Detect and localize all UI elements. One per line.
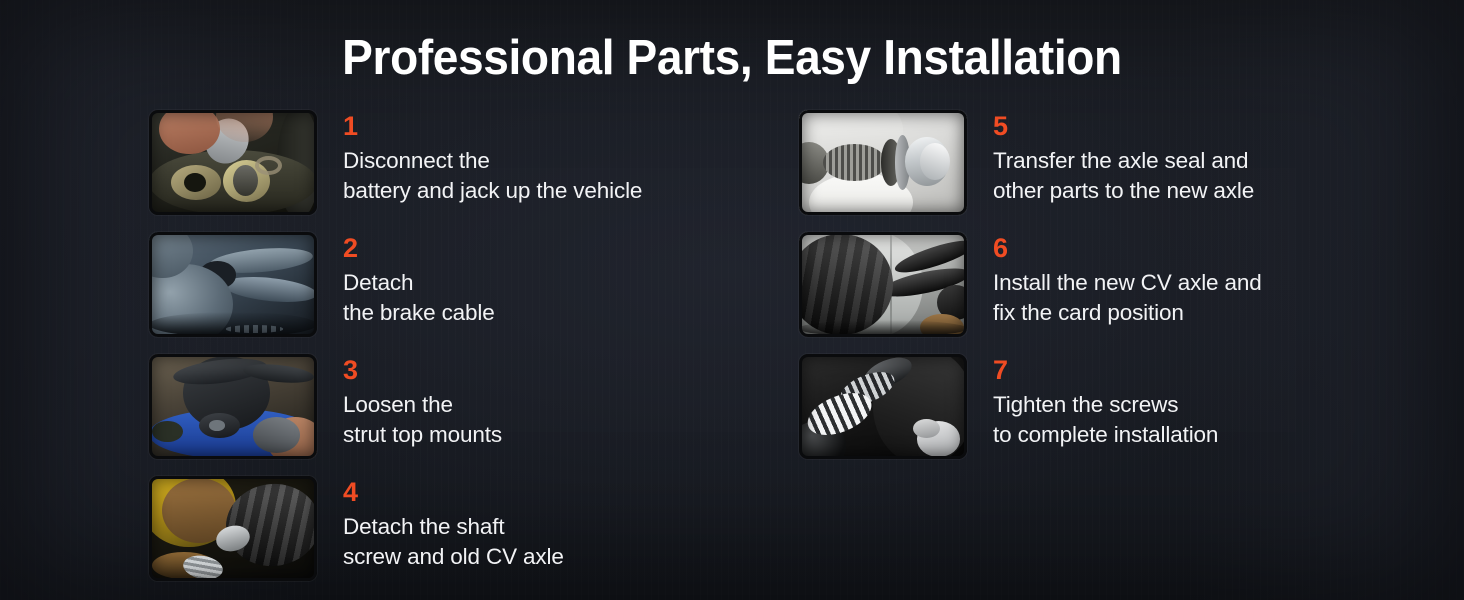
step-2-photo-detach-brake-cable-pliers xyxy=(149,232,317,337)
step-6-text: 6 Install the new CV axle and fix the ca… xyxy=(993,232,1262,328)
step-4-photo-detach-shaft-screw-old-cv-axle xyxy=(149,476,317,581)
step-3-description: Loosen the strut top mounts xyxy=(343,390,502,450)
step-3-thumbnail xyxy=(149,354,317,459)
step-6-thumbnail xyxy=(799,232,967,337)
step-7-number: 7 xyxy=(993,355,1218,385)
step-item: 4 Detach the shaft screw and old CV axle xyxy=(149,476,769,598)
step-4-thumbnail xyxy=(149,476,317,581)
step-item: 1 Disconnect the battery and jack up the… xyxy=(149,110,769,232)
step-1-description: Disconnect the battery and jack up the v… xyxy=(343,146,642,206)
steps-columns: 1 Disconnect the battery and jack up the… xyxy=(0,0,1464,600)
step-5-photo-transfer-axle-seal xyxy=(799,110,967,215)
step-6-photo-install-new-cv-axle xyxy=(799,232,967,337)
step-2-thumbnail xyxy=(149,232,317,337)
step-3-text: 3 Loosen the strut top mounts xyxy=(343,354,502,450)
steps-column-left: 1 Disconnect the battery and jack up the… xyxy=(149,110,769,598)
step-7-text: 7 Tighten the screws to complete install… xyxy=(993,354,1218,450)
step-3-photo-loosen-strut-top-mounts xyxy=(149,354,317,459)
step-1-number: 1 xyxy=(343,111,642,141)
step-6-number: 6 xyxy=(993,233,1262,263)
installation-steps-banner: Professional Parts, Easy Installation 1 … xyxy=(0,0,1464,600)
step-5-text: 5 Transfer the axle seal and other parts… xyxy=(993,110,1254,206)
step-5-thumbnail xyxy=(799,110,967,215)
step-item: 7 Tighten the screws to complete install… xyxy=(799,354,1419,476)
step-item: 3 Loosen the strut top mounts xyxy=(149,354,769,476)
step-4-number: 4 xyxy=(343,477,564,507)
step-2-number: 2 xyxy=(343,233,495,263)
step-5-description: Transfer the axle seal and other parts t… xyxy=(993,146,1254,206)
step-7-thumbnail xyxy=(799,354,967,459)
step-5-number: 5 xyxy=(993,111,1254,141)
step-4-text: 4 Detach the shaft screw and old CV axle xyxy=(343,476,564,572)
step-1-photo-disconnect-battery-terminal xyxy=(149,110,317,215)
step-item: 5 Transfer the axle seal and other parts… xyxy=(799,110,1419,232)
step-7-photo-tighten-screws-impact-wrench xyxy=(799,354,967,459)
step-7-description: Tighten the screws to complete installat… xyxy=(993,390,1218,450)
step-3-number: 3 xyxy=(343,355,502,385)
step-1-text: 1 Disconnect the battery and jack up the… xyxy=(343,110,642,206)
step-6-description: Install the new CV axle and fix the card… xyxy=(993,268,1262,328)
step-4-description: Detach the shaft screw and old CV axle xyxy=(343,512,564,572)
steps-column-right: 5 Transfer the axle seal and other parts… xyxy=(799,110,1419,476)
step-2-description: Detach the brake cable xyxy=(343,268,495,328)
step-2-text: 2 Detach the brake cable xyxy=(343,232,495,328)
step-item: 2 Detach the brake cable xyxy=(149,232,769,354)
page-title: Professional Parts, Easy Installation xyxy=(44,34,1420,83)
step-1-thumbnail xyxy=(149,110,317,215)
step-item: 6 Install the new CV axle and fix the ca… xyxy=(799,232,1419,354)
